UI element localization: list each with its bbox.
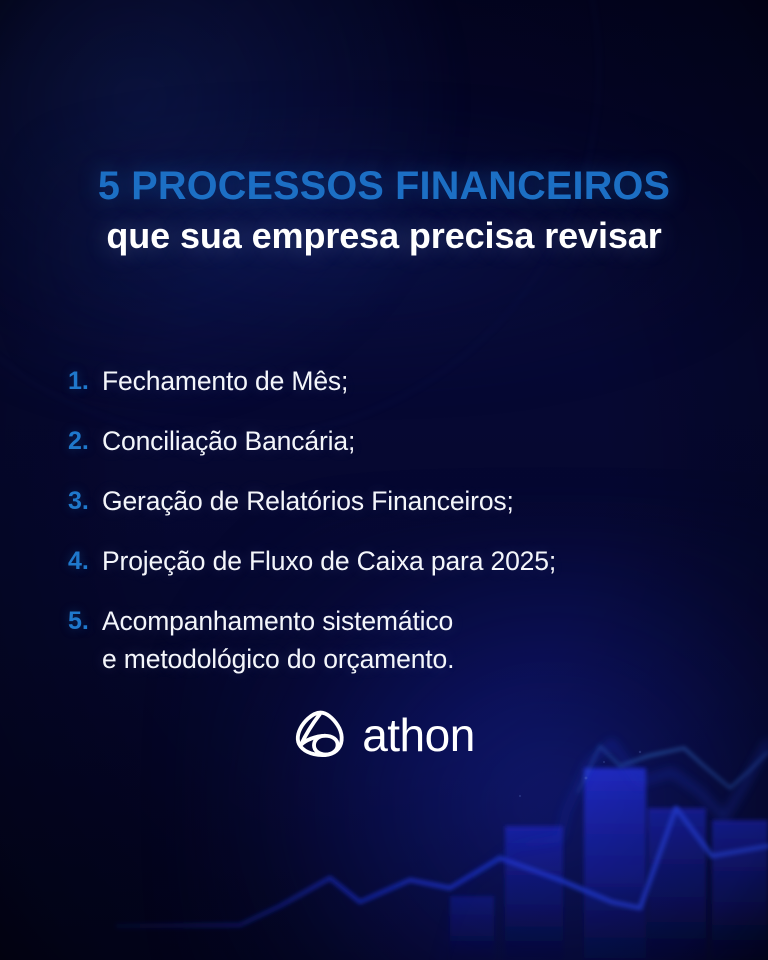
list-item-label: Projeção de Fluxo de Caixa para 2025; (102, 542, 556, 580)
slide-content: 5 PROCESSOS FINANCEIROS que sua empresa … (0, 0, 768, 960)
headline-line-2: que sua empresa precisa revisar (0, 217, 768, 255)
list-item-label: Geração de Relatórios Financeiros; (102, 482, 514, 520)
athon-wordmark: athon (362, 712, 475, 758)
headline-line-1: 5 PROCESSOS FINANCEIROS (4, 166, 764, 206)
list-item: 3. Geração de Relatórios Financeiros; (68, 482, 728, 520)
list-item: 1. Fechamento de Mês; (68, 362, 728, 400)
athon-leaf-icon (293, 706, 349, 762)
headline: 5 PROCESSOS FINANCEIROS que sua empresa … (0, 166, 768, 255)
list-item-label: Conciliação Bancária; (102, 422, 355, 460)
list-item-number: 5. (68, 602, 102, 640)
list-item: 2. Conciliação Bancária; (68, 422, 728, 460)
list-item-number: 1. (68, 362, 102, 400)
list-item: 4. Projeção de Fluxo de Caixa para 2025; (68, 542, 728, 580)
process-list: 1. Fechamento de Mês; 2. Conciliação Ban… (68, 362, 728, 678)
list-item-number: 3. (68, 482, 102, 520)
list-item-label: Acompanhamento sistemático e metodológic… (102, 602, 454, 678)
brand-logo: athon (0, 706, 768, 762)
list-item-label: Fechamento de Mês; (102, 362, 348, 400)
list-item-number: 4. (68, 542, 102, 580)
list-item: 5. Acompanhamento sistemático e metodoló… (68, 602, 728, 678)
list-item-number: 2. (68, 422, 102, 460)
